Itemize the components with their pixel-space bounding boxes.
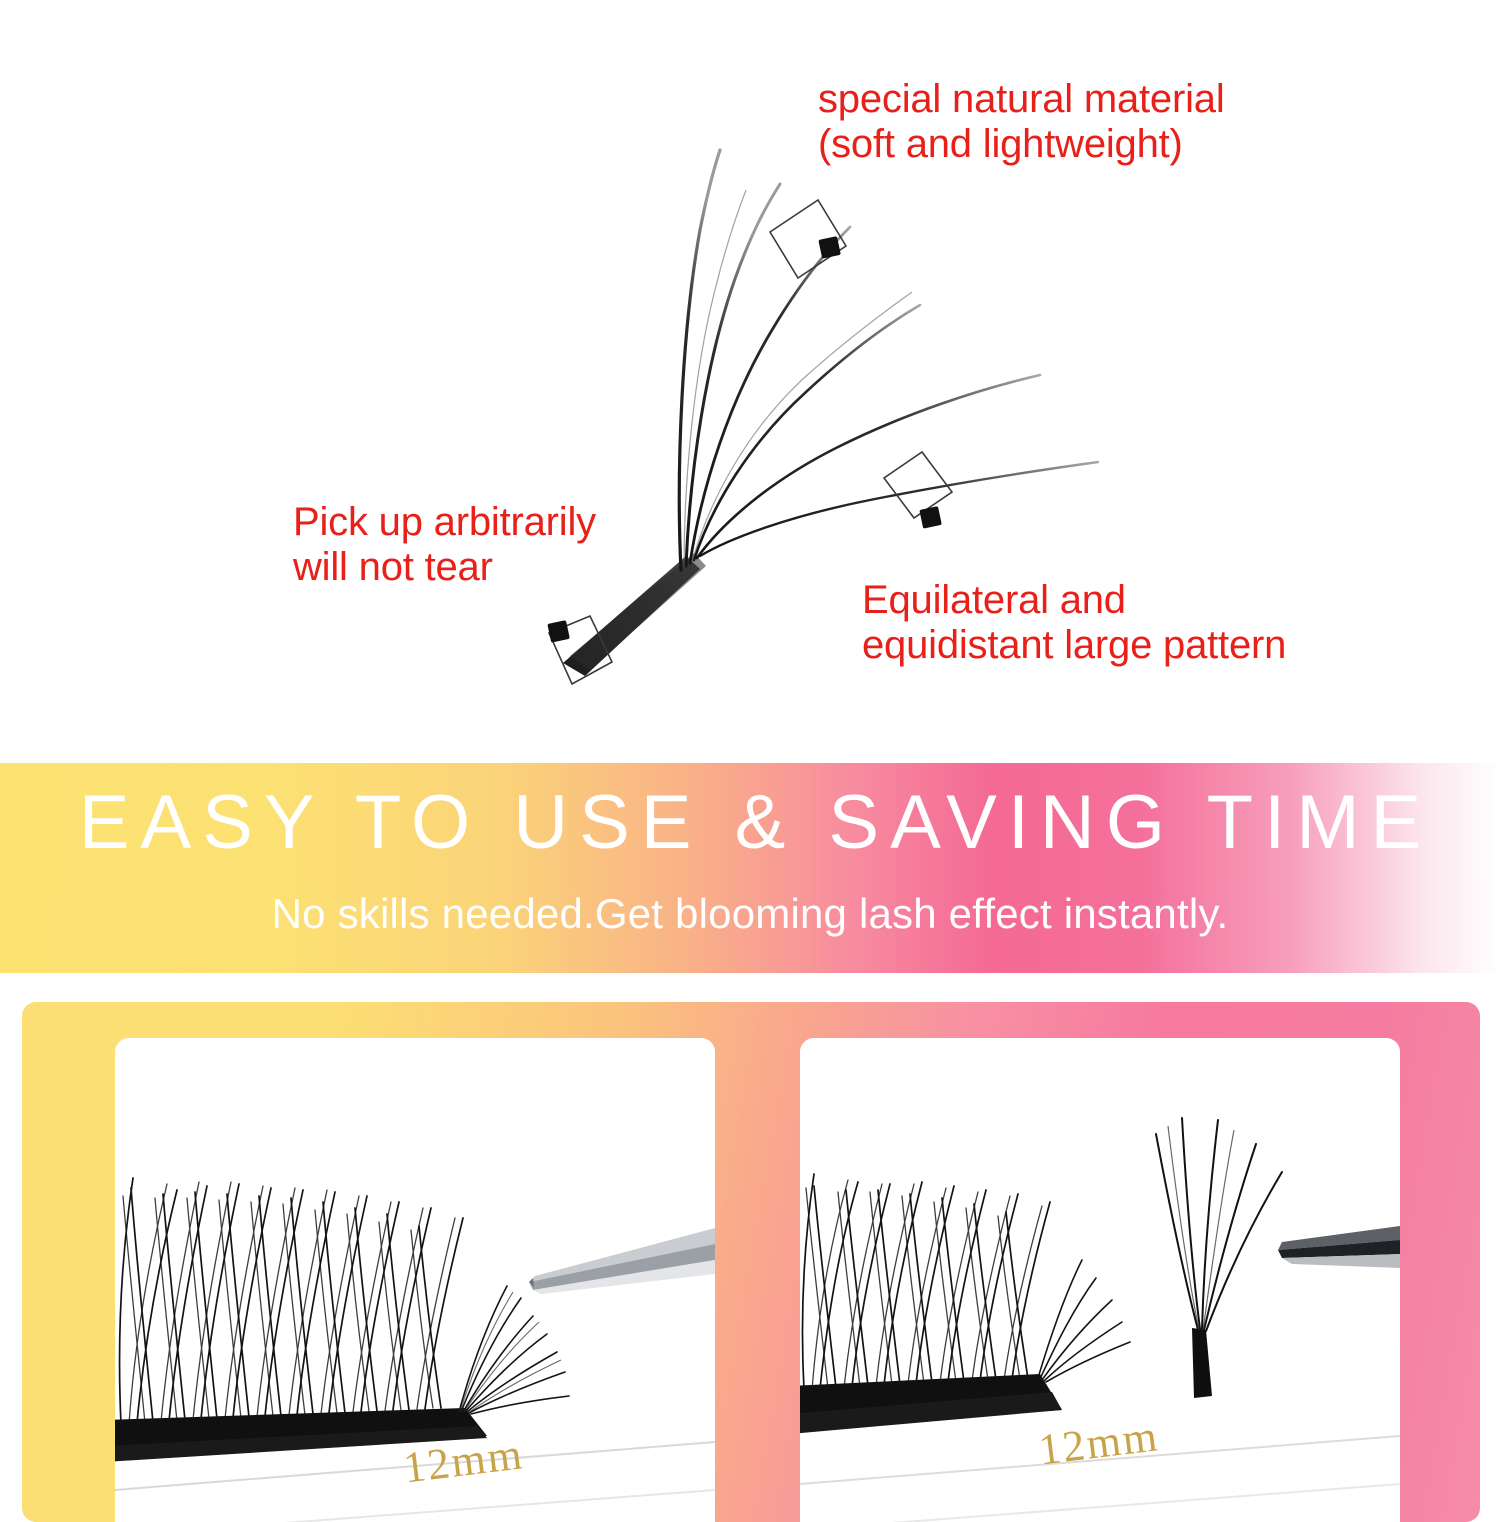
callout-special-natural-material: special natural material (soft and light… bbox=[818, 77, 1225, 167]
feature-banner: EASY TO USE & SAVING TIME No skills need… bbox=[0, 763, 1500, 973]
product-photo-left: 12mm bbox=[115, 1038, 715, 1522]
callout-marker-top bbox=[770, 200, 846, 278]
fan-filaments bbox=[679, 150, 1098, 570]
product-photo-right: 12mm bbox=[800, 1038, 1400, 1522]
lash-tray-with-tweezers-image: 12mm bbox=[115, 1038, 715, 1522]
fan-secondary-hairs bbox=[684, 190, 912, 567]
banner-subheadline: No skills needed.Get blooming lash effec… bbox=[0, 893, 1500, 935]
callout-equilateral-equidistant: Equilateral and equidistant large patter… bbox=[862, 578, 1286, 668]
product-photo-frame: 12mm bbox=[22, 1002, 1480, 1522]
banner-headline: EASY TO USE & SAVING TIME bbox=[0, 785, 1500, 861]
callout-pick-up-arbitrarily: Pick up arbitrarily will not tear bbox=[293, 500, 596, 590]
lash-tray-with-lifted-fan-image: 12mm bbox=[800, 1038, 1400, 1522]
lash-fan-diagram-section: special natural material (soft and light… bbox=[0, 0, 1500, 755]
